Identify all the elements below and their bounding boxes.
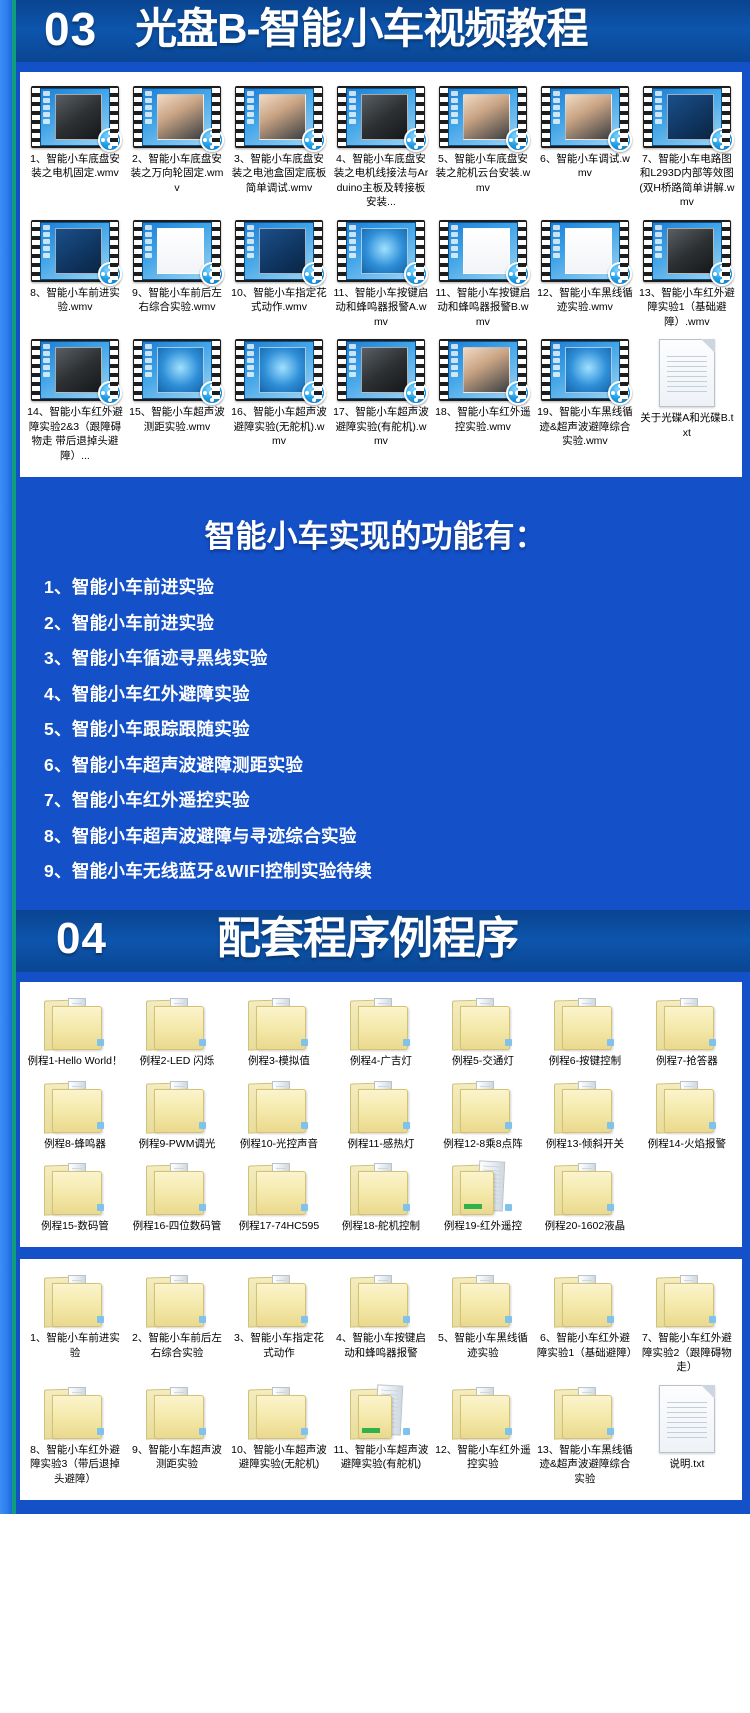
folder-icon <box>554 996 616 1050</box>
folder-item[interactable]: 10、智能小车超声波避障实验(无舵机) <box>228 1381 330 1492</box>
folder-icon <box>44 1385 106 1439</box>
section-04-title: 配套程序例程序 <box>217 916 518 962</box>
car-folder-grid: 1、智能小车前进实验2、智能小车前后左右综合实验3、智能小车指定花式动作4、智能… <box>24 1269 738 1492</box>
folder-item[interactable]: 11、智能小车超声波避障实验(有舵机) <box>330 1381 432 1492</box>
folder-label: 12、智能小车红外遥控实验 <box>435 1443 531 1472</box>
text-file-icon <box>659 339 715 407</box>
folder-label: 例程7-抢答器 <box>656 1054 718 1068</box>
folder-icon <box>452 1385 514 1439</box>
folder-item[interactable]: 例程7-抢答器 <box>636 992 738 1074</box>
folder-icon <box>248 1273 310 1327</box>
file-label: 3、智能小车底盘安装之电池盒固定底板简单调试.wmv <box>231 152 327 195</box>
file-label: 15、智能小车超声波测距实验.wmv <box>129 405 225 434</box>
left-blue-rail <box>0 0 12 1514</box>
features-list: 1、智能小车前进实验2、智能小车前进实验3、智能小车循迹寻黑线实验4、智能小车红… <box>0 570 750 890</box>
folder-icon <box>248 1161 310 1215</box>
video-file-icon <box>643 86 731 148</box>
file-label: 7、智能小车电路图和L293D内部等效图(双H桥路简单讲解.wmv <box>639 152 735 210</box>
video-file-item[interactable]: 11、智能小车按键启动和蜂鸣器报警A.wmv <box>330 216 432 335</box>
film-reel-icon <box>302 128 326 152</box>
file-label: 12、智能小车黑线循迹实验.wmv <box>537 286 633 315</box>
section-03-number: 03 <box>44 6 97 52</box>
folder-item[interactable]: 例程10-光控声音 <box>228 1075 330 1157</box>
video-file-item[interactable]: 18、智能小车红外遥控实验.wmv <box>432 335 534 469</box>
file-label: 1、智能小车底盘安装之电机固定.wmv <box>27 152 123 181</box>
folder-icon <box>248 1385 310 1439</box>
feature-item: 6、智能小车超声波避障测距实验 <box>44 748 750 784</box>
folder-icon <box>146 1079 208 1133</box>
folder-label: 例程20-1602液晶 <box>545 1219 626 1233</box>
film-reel-icon <box>608 381 632 405</box>
video-file-item[interactable]: 4、智能小车底盘安装之电机线接法与Arduino主板及转接板安装... <box>330 82 432 216</box>
section-03-banner: 03 光盘B-智能小车视频教程 <box>0 0 750 62</box>
folder-icon <box>146 996 208 1050</box>
video-file-item[interactable]: 2、智能小车底盘安装之万向轮固定.wmv <box>126 82 228 216</box>
folder-label: 例程9-PWM调光 <box>138 1137 215 1151</box>
film-reel-icon <box>302 381 326 405</box>
film-reel-icon <box>608 128 632 152</box>
folder-label: 6、智能小车红外避障实验1（基础避障） <box>537 1331 633 1360</box>
folder-label: 例程6-按键控制 <box>549 1054 621 1068</box>
folder-icon <box>350 1273 412 1327</box>
separator-after-folders <box>0 1247 750 1259</box>
feature-item: 7、智能小车红外遥控实验 <box>44 783 750 819</box>
video-file-item[interactable]: 14、智能小车红外避障实验2&3（跟障碍物走 带后退掉头避障）... <box>24 335 126 469</box>
film-reel-icon <box>98 381 122 405</box>
folder-icon <box>554 1161 616 1215</box>
text-file-icon <box>659 1385 715 1453</box>
file-label: 6、智能小车调试.wmv <box>537 152 633 181</box>
folder-label: 11、智能小车超声波避障实验(有舵机) <box>333 1443 429 1472</box>
folder-item[interactable]: 6、智能小车红外避障实验1（基础避障） <box>534 1269 636 1380</box>
folder-icon <box>44 1161 106 1215</box>
folder-label: 例程11-感热灯 <box>347 1137 414 1151</box>
file-label: 2、智能小车底盘安装之万向轮固定.wmv <box>129 152 225 195</box>
file-label: 13、智能小车红外避障实验1（基础避障）.wmv <box>639 286 735 329</box>
video-file-icon <box>541 220 629 282</box>
folder-icon <box>554 1385 616 1439</box>
folder-label: 例程1-Hello World！ <box>28 1054 123 1068</box>
video-file-icon <box>439 86 527 148</box>
folder-item[interactable]: 2、智能小车前后左右综合实验 <box>126 1269 228 1380</box>
video-file-icon <box>235 339 323 401</box>
folder-item[interactable]: 例程13-倾斜开关 <box>534 1075 636 1157</box>
folder-icon <box>350 1079 412 1133</box>
video-file-item[interactable]: 12、智能小车黑线循迹实验.wmv <box>534 216 636 335</box>
folder-label: 7、智能小车红外避障实验2（跟障碍物走） <box>639 1331 735 1374</box>
folder-icon <box>656 1273 718 1327</box>
video-file-item[interactable]: 16、智能小车超声波避障实验(无舵机).wmv <box>228 335 330 469</box>
video-file-icon <box>337 339 425 401</box>
folder-label: 例程15-数码管 <box>41 1219 109 1233</box>
film-reel-icon <box>200 128 224 152</box>
folder-item[interactable]: 8、智能小车红外避障实验3（带后退掉头避障） <box>24 1381 126 1492</box>
video-file-explorer: 1、智能小车底盘安装之电机固定.wmv2、智能小车底盘安装之万向轮固定.wmv3… <box>20 72 742 477</box>
banner-gap-03 <box>0 62 750 72</box>
file-label: 17、智能小车超声波避障实验(有舵机).wmv <box>333 405 429 448</box>
folder-item[interactable]: 例程16-四位数码管 <box>126 1157 228 1239</box>
video-file-icon <box>235 86 323 148</box>
video-file-icon <box>133 339 221 401</box>
folder-icon <box>146 1161 208 1215</box>
film-reel-icon <box>200 381 224 405</box>
video-file-item[interactable]: 15、智能小车超声波测距实验.wmv <box>126 335 228 469</box>
folder-icon <box>44 996 106 1050</box>
folder-label: 5、智能小车黑线循迹实验 <box>435 1331 531 1360</box>
video-file-icon <box>337 220 425 282</box>
file-label: 16、智能小车超声波避障实验(无舵机).wmv <box>231 405 327 448</box>
folder-item[interactable]: 12、智能小车红外遥控实验 <box>432 1381 534 1492</box>
film-reel-icon <box>404 381 428 405</box>
video-file-icon <box>31 220 119 282</box>
video-file-item[interactable]: 7、智能小车电路图和L293D内部等效图(双H桥路简单讲解.wmv <box>636 82 738 216</box>
folder-item[interactable]: 例程8-蜂鸣器 <box>24 1075 126 1157</box>
folder-item[interactable]: 例程17-74HC595 <box>228 1157 330 1239</box>
bottom-padding <box>0 1500 750 1514</box>
folder-label: 例程19-红外遥控 <box>444 1219 522 1233</box>
video-file-icon <box>31 339 119 401</box>
folder-item[interactable]: 5、智能小车黑线循迹实验 <box>432 1269 534 1380</box>
folder-open-icon <box>452 1161 514 1215</box>
video-file-item[interactable]: 19、智能小车黑线循迹&超声波避障综合实验.wmv <box>534 335 636 469</box>
folder-label: 例程3-模拟值 <box>248 1054 310 1068</box>
video-file-icon <box>541 86 629 148</box>
video-file-icon <box>643 220 731 282</box>
folder-label: 例程14-火焰报警 <box>648 1137 726 1151</box>
folder-label: 例程2-LED 闪烁 <box>140 1054 215 1068</box>
folder-icon <box>554 1273 616 1327</box>
folder-label: 8、智能小车红外避障实验3（带后退掉头避障） <box>27 1443 123 1486</box>
folder-label: 例程4-广吉灯 <box>350 1054 412 1068</box>
folder-icon <box>452 1079 514 1133</box>
folder-label: 2、智能小车前后左右综合实验 <box>129 1331 225 1360</box>
folder-item[interactable]: 例程4-广吉灯 <box>330 992 432 1074</box>
folder-item[interactable]: 例程3-模拟值 <box>228 992 330 1074</box>
folder-label: 例程12-8乘8点阵 <box>443 1137 522 1151</box>
file-label: 9、智能小车前后左右综合实验.wmv <box>129 286 225 315</box>
folder-label: 例程18-舵机控制 <box>342 1219 420 1233</box>
folder-item[interactable]: 例程6-按键控制 <box>534 992 636 1074</box>
folder-label: 3、智能小车指定花式动作 <box>231 1331 327 1360</box>
video-file-grid: 1、智能小车底盘安装之电机固定.wmv2、智能小车底盘安装之万向轮固定.wmv3… <box>24 82 738 469</box>
video-file-item[interactable]: 3、智能小车底盘安装之电池盒固定底板简单调试.wmv <box>228 82 330 216</box>
video-file-item[interactable]: 10、智能小车指定花式动作.wmv <box>228 216 330 335</box>
video-file-item[interactable]: 17、智能小车超声波避障实验(有舵机).wmv <box>330 335 432 469</box>
folder-label: 例程13-倾斜开关 <box>546 1137 624 1151</box>
car-folder-explorer: 1、智能小车前进实验2、智能小车前后左右综合实验3、智能小车指定花式动作4、智能… <box>20 1259 742 1500</box>
separator-after-videos <box>0 477 750 489</box>
folder-icon <box>146 1273 208 1327</box>
video-file-icon <box>31 86 119 148</box>
section-04-number: 04 <box>56 917 107 961</box>
folder-item[interactable]: 1、智能小车前进实验 <box>24 1269 126 1380</box>
folder-icon <box>350 996 412 1050</box>
folder-item[interactable]: 13、智能小车黑线循迹&超声波避障综合实验 <box>534 1381 636 1492</box>
folder-item[interactable]: 例程11-感热灯 <box>330 1075 432 1157</box>
folder-label: 例程8-蜂鸣器 <box>44 1137 106 1151</box>
video-file-item[interactable]: 11、智能小车按键启动和蜂鸣器报警B.wmv <box>432 216 534 335</box>
file-label: 4、智能小车底盘安装之电机线接法与Arduino主板及转接板安装... <box>333 152 429 210</box>
file-label: 11、智能小车按键启动和蜂鸣器报警B.wmv <box>435 286 531 329</box>
video-file-item[interactable]: 1、智能小车底盘安装之电机固定.wmv <box>24 82 126 216</box>
folder-item[interactable]: 例程19-红外遥控 <box>432 1157 534 1239</box>
video-file-icon <box>133 86 221 148</box>
folder-icon <box>248 996 310 1050</box>
video-file-item[interactable]: 6、智能小车调试.wmv <box>534 82 636 216</box>
video-file-icon <box>439 339 527 401</box>
film-reel-icon <box>710 262 734 286</box>
folder-label: 9、智能小车超声波测距实验 <box>129 1443 225 1472</box>
video-file-item[interactable]: 关于光碟A和光碟B.txt <box>636 335 738 469</box>
folder-label: 说明.txt <box>669 1457 704 1471</box>
features-title: 智能小车实现的功能有： <box>0 511 750 556</box>
feature-item: 2、智能小车前进实验 <box>44 606 750 642</box>
folder-item[interactable]: 例程14-火焰报警 <box>636 1075 738 1157</box>
video-file-icon <box>337 86 425 148</box>
file-label: 18、智能小车红外遥控实验.wmv <box>435 405 531 434</box>
film-reel-icon <box>302 262 326 286</box>
folder-icon <box>350 1161 412 1215</box>
film-reel-icon <box>608 262 632 286</box>
folder-item[interactable]: 说明.txt <box>636 1381 738 1492</box>
file-label: 10、智能小车指定花式动作.wmv <box>231 286 327 315</box>
film-reel-icon <box>506 381 530 405</box>
folder-icon <box>452 996 514 1050</box>
folder-item[interactable]: 例程18-舵机控制 <box>330 1157 432 1239</box>
features-section: 智能小车实现的功能有： 1、智能小车前进实验2、智能小车前进实验3、智能小车循迹… <box>0 489 750 910</box>
folder-icon <box>452 1273 514 1327</box>
folder-item[interactable]: 例程15-数码管 <box>24 1157 126 1239</box>
video-file-icon <box>541 339 629 401</box>
folder-item[interactable]: 7、智能小车红外避障实验2（跟障碍物走） <box>636 1269 738 1380</box>
folder-label: 例程5-交通灯 <box>452 1054 514 1068</box>
folder-item[interactable]: 3、智能小车指定花式动作 <box>228 1269 330 1380</box>
example-folder-explorer: 例程1-Hello World！例程2-LED 闪烁例程3-模拟值例程4-广吉灯… <box>20 982 742 1247</box>
folder-item[interactable]: 例程12-8乘8点阵 <box>432 1075 534 1157</box>
folder-icon <box>146 1385 208 1439</box>
folder-item[interactable]: 例程9-PWM调光 <box>126 1075 228 1157</box>
folder-icon <box>554 1079 616 1133</box>
folder-item[interactable]: 例程1-Hello World！ <box>24 992 126 1074</box>
video-file-icon <box>235 220 323 282</box>
film-reel-icon <box>98 128 122 152</box>
folder-icon <box>656 1079 718 1133</box>
video-file-item[interactable]: 9、智能小车前后左右综合实验.wmv <box>126 216 228 335</box>
folder-label: 例程17-74HC595 <box>239 1219 320 1233</box>
video-file-icon <box>133 220 221 282</box>
feature-item: 9、智能小车无线蓝牙&WIFl控制实验待续 <box>44 854 750 890</box>
folder-icon <box>656 996 718 1050</box>
file-label: 关于光碟A和光碟B.txt <box>639 411 735 440</box>
folder-label: 例程16-四位数码管 <box>133 1219 222 1233</box>
feature-item: 8、智能小车超声波避障与寻迹综合实验 <box>44 819 750 855</box>
film-reel-icon <box>200 262 224 286</box>
folder-label: 例程10-光控声音 <box>240 1137 318 1151</box>
folder-item[interactable]: 例程20-1602液晶 <box>534 1157 636 1239</box>
video-file-item[interactable]: 13、智能小车红外避障实验1（基础避障）.wmv <box>636 216 738 335</box>
infographic-page: 03 光盘B-智能小车视频教程 1、智能小车底盘安装之电机固定.wmv2、智能小… <box>0 0 750 1514</box>
file-label: 8、智能小车前进实验.wmv <box>27 286 123 315</box>
film-reel-icon <box>98 262 122 286</box>
example-folder-grid: 例程1-Hello World！例程2-LED 闪烁例程3-模拟值例程4-广吉灯… <box>24 992 738 1239</box>
file-label: 14、智能小车红外避障实验2&3（跟障碍物走 带后退掉头避障）... <box>27 405 123 463</box>
folder-open-icon <box>350 1385 412 1439</box>
file-label: 5、智能小车底盘安装之舵机云台安装.wmv <box>435 152 531 195</box>
feature-item: 3、智能小车循迹寻黑线实验 <box>44 641 750 677</box>
file-label: 19、智能小车黑线循迹&超声波避障综合实验.wmv <box>537 405 633 448</box>
folder-label: 10、智能小车超声波避障实验(无舵机) <box>231 1443 327 1472</box>
film-reel-icon <box>506 262 530 286</box>
feature-item: 4、智能小车红外避障实验 <box>44 677 750 713</box>
video-file-item[interactable]: 5、智能小车底盘安装之舵机云台安装.wmv <box>432 82 534 216</box>
banner-gap-04 <box>0 972 750 982</box>
film-reel-icon <box>404 128 428 152</box>
folder-item[interactable]: 4、智能小车按键启动和蜂鸣器报警 <box>330 1269 432 1380</box>
left-green-rail <box>12 0 16 1514</box>
folder-icon <box>248 1079 310 1133</box>
video-file-item[interactable]: 8、智能小车前进实验.wmv <box>24 216 126 335</box>
folder-item[interactable]: 例程2-LED 闪烁 <box>126 992 228 1074</box>
feature-item: 1、智能小车前进实验 <box>44 570 750 606</box>
film-reel-icon <box>404 262 428 286</box>
folder-item[interactable]: 例程5-交通灯 <box>432 992 534 1074</box>
section-03-title: 光盘B-智能小车视频教程 <box>135 7 587 51</box>
folder-icon <box>44 1273 106 1327</box>
folder-icon <box>44 1079 106 1133</box>
folder-item[interactable]: 9、智能小车超声波测距实验 <box>126 1381 228 1492</box>
folder-label: 4、智能小车按键启动和蜂鸣器报警 <box>333 1331 429 1360</box>
file-label: 11、智能小车按键启动和蜂鸣器报警A.wmv <box>333 286 429 329</box>
film-reel-icon <box>506 128 530 152</box>
folder-label: 13、智能小车黑线循迹&超声波避障综合实验 <box>537 1443 633 1486</box>
section-04-banner: 04 配套程序例程序 <box>0 910 750 972</box>
video-file-icon <box>439 220 527 282</box>
feature-item: 5、智能小车跟踪跟随实验 <box>44 712 750 748</box>
folder-label: 1、智能小车前进实验 <box>27 1331 123 1360</box>
film-reel-icon <box>710 128 734 152</box>
